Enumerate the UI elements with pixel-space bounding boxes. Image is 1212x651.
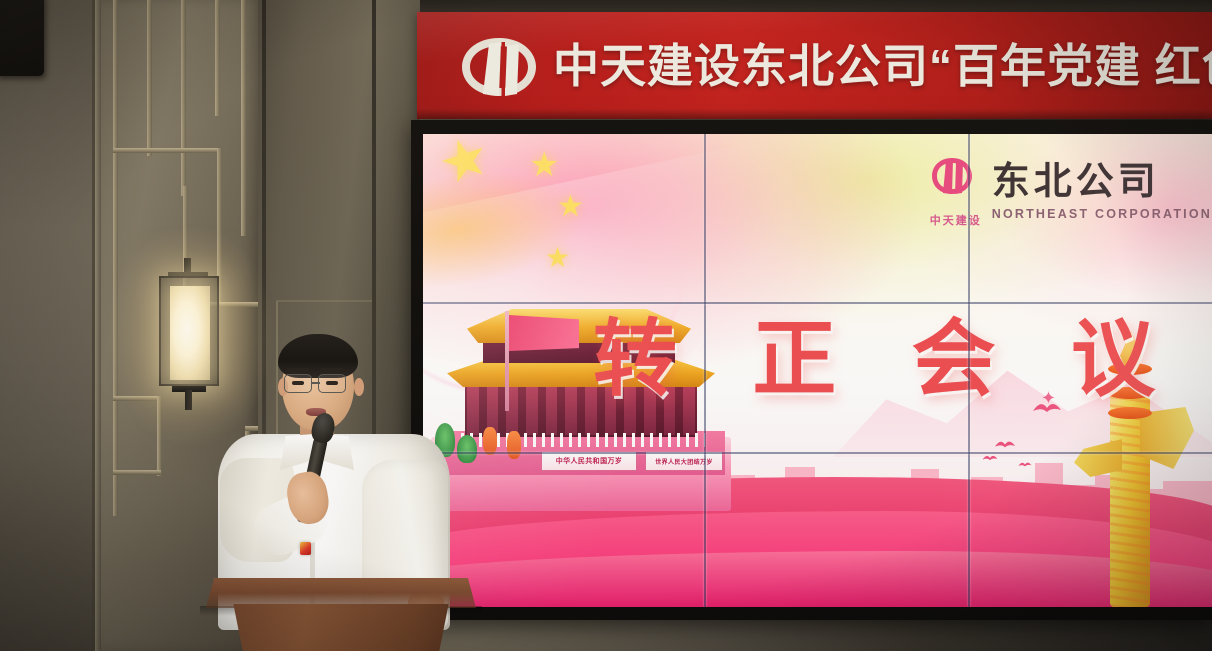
lectern-body xyxy=(224,604,458,651)
flag-star-icon: ★ xyxy=(529,148,559,182)
event-banner: 中天建设东北公司“百年党建 红色记忆”党日活动 xyxy=(417,12,1212,119)
lamp-shade xyxy=(170,286,210,380)
slide-company-logo: 中天建设 东北公司 NORTHEAST CORPORATION xyxy=(930,156,1212,228)
company-name-cn: 东北公司 xyxy=(992,163,1212,201)
dove-icon xyxy=(982,453,998,463)
banner-title: 中天建设东北公司“百年党建 红色记忆”党日活动 xyxy=(553,26,1212,106)
video-wall-seam xyxy=(704,134,706,607)
company-name-en: NORTHEAST CORPORATION xyxy=(992,207,1212,221)
lcd-video-wall: ★ ★ ★ ★ 中天建设 东北公司 xyxy=(411,120,1212,620)
flag-star-icon: ★ xyxy=(545,244,570,272)
eyebrow xyxy=(286,368,310,372)
ear xyxy=(354,378,364,396)
flag-star-icon: ★ xyxy=(557,192,584,222)
eye xyxy=(326,381,338,385)
wooden-lectern xyxy=(206,578,476,608)
party-emblem-pin xyxy=(300,542,311,555)
eyeglasses-bridge xyxy=(312,382,320,384)
video-wall-screen: ★ ★ ★ ★ 中天建设 东北公司 xyxy=(423,134,1212,607)
eye xyxy=(292,381,304,385)
ceiling-speaker-icon xyxy=(0,0,44,76)
photo-scene: 中天建设东北公司“百年党建 红色记忆”党日活动 ★ ★ ★ ★ xyxy=(0,0,1212,651)
dove-icon xyxy=(1018,460,1032,469)
video-wall-seam xyxy=(423,452,1212,454)
gate-slogan-left: 中华人民共和国万岁 xyxy=(541,451,637,471)
zhongtian-construction-logo xyxy=(459,32,539,102)
gate-slogan-right: 世界人民大团结万岁 xyxy=(645,451,723,471)
left-wall xyxy=(0,0,92,651)
video-wall-seam xyxy=(968,134,970,607)
video-wall-seam xyxy=(423,302,1212,304)
eyebrow xyxy=(320,368,344,372)
logo-caption: 中天建设 xyxy=(930,212,982,228)
slide-title: 转 正 会 议 xyxy=(593,292,1181,413)
dove-icon xyxy=(994,438,1016,451)
wall-sconce xyxy=(159,276,219,386)
sconce-base xyxy=(185,390,192,410)
